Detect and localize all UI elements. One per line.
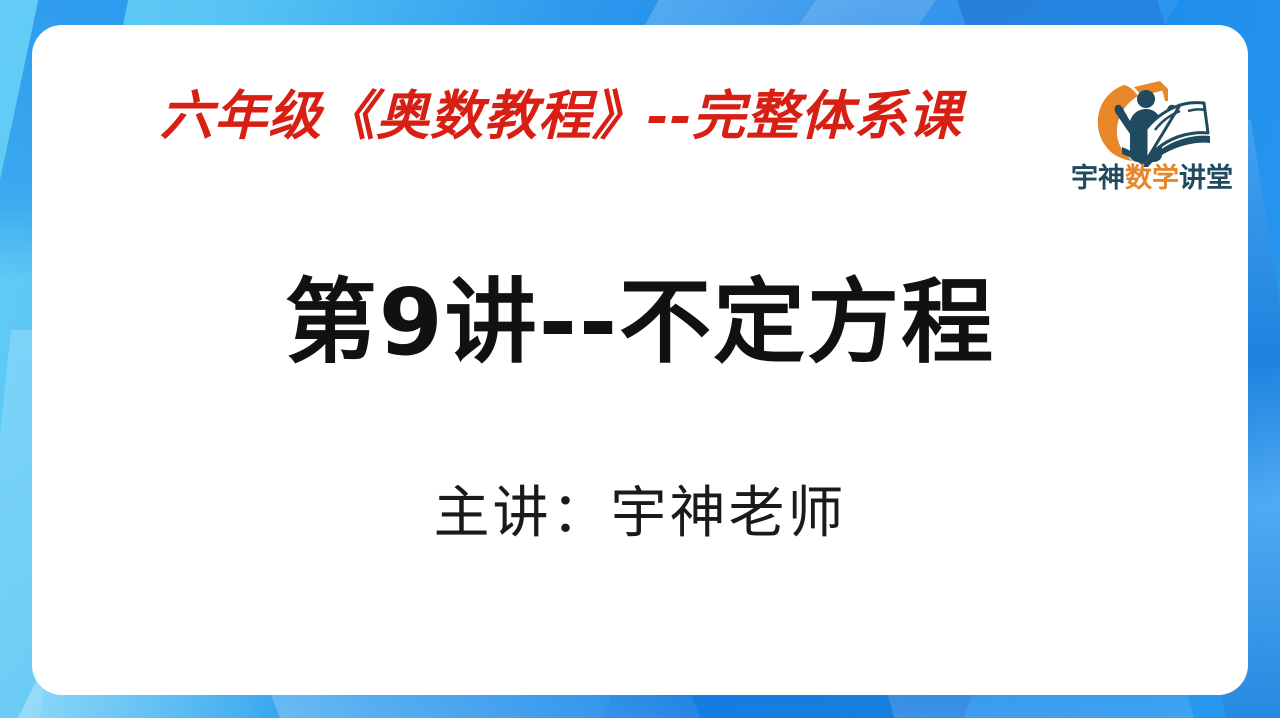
brand-logo-text-part1: 宇神 xyxy=(1071,163,1125,194)
brand-logo-text-part2: 数学 xyxy=(1125,163,1179,194)
header-row: 六年级《奥数教程》--完整体系课 xyxy=(32,77,1248,187)
course-title: 六年级《奥数教程》--完整体系课 xyxy=(56,87,1066,146)
slide-root: 六年级《奥数教程》--完整体系课 xyxy=(0,0,1280,718)
book-and-graduate-icon xyxy=(1076,77,1226,167)
brand-logo-text-part3: 讲堂 xyxy=(1179,163,1233,194)
brand-logo: 宇神数学讲堂 xyxy=(1064,77,1240,205)
content-card: 六年级《奥数教程》--完整体系课 xyxy=(32,25,1248,695)
presenter-line: 主讲：宇神老师 xyxy=(32,480,1248,547)
lecture-title: 第9讲--不定方程 xyxy=(32,268,1248,378)
brand-logo-text: 宇神数学讲堂 xyxy=(1064,165,1240,192)
